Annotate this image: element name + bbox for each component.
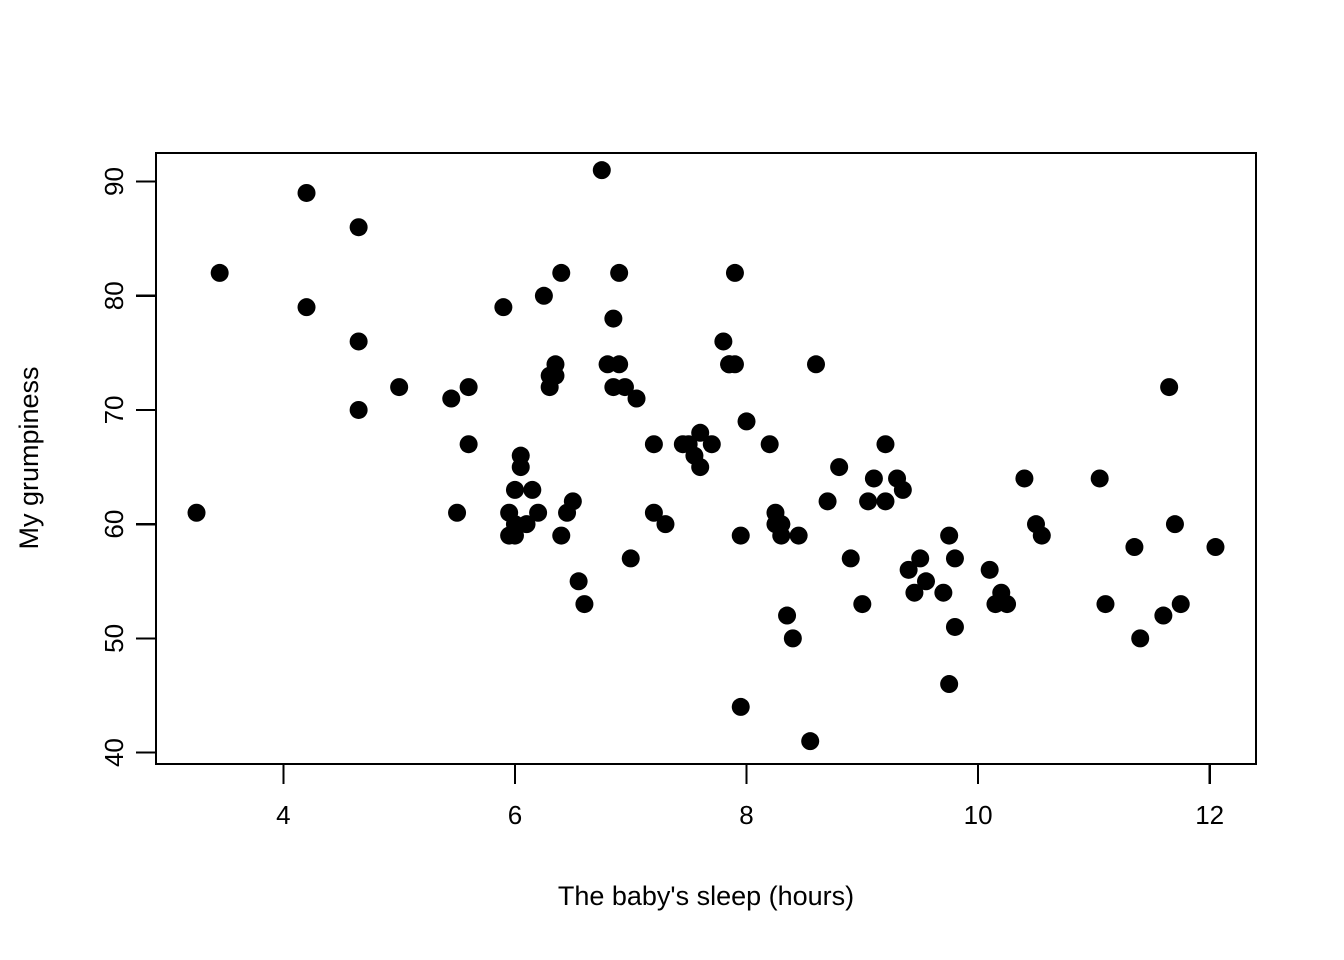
data-point: [570, 572, 588, 590]
y-tick-label: 60: [99, 510, 129, 539]
data-point: [876, 492, 894, 510]
data-point: [790, 527, 808, 545]
data-point: [703, 435, 721, 453]
data-point: [575, 595, 593, 613]
y-tick-label: 70: [99, 396, 129, 425]
data-point: [894, 481, 912, 499]
data-point: [726, 355, 744, 373]
data-point: [442, 390, 460, 408]
y-axis-title: My grumpiness: [14, 366, 44, 549]
data-point: [1015, 469, 1033, 487]
data-point: [188, 504, 206, 522]
data-point: [645, 435, 663, 453]
data-point: [350, 401, 368, 419]
y-tick-label: 50: [99, 624, 129, 653]
x-tick-label: 10: [964, 800, 993, 830]
data-point: [998, 595, 1016, 613]
data-point: [298, 298, 316, 316]
data-point: [772, 527, 790, 545]
data-point: [946, 549, 964, 567]
data-point: [546, 367, 564, 385]
data-point: [494, 298, 512, 316]
data-point: [911, 549, 929, 567]
data-point: [523, 481, 541, 499]
data-point: [691, 458, 709, 476]
data-point: [552, 264, 570, 282]
data-point: [1033, 527, 1051, 545]
y-tick-label: 80: [99, 281, 129, 310]
data-points-layer: [188, 161, 1225, 750]
data-point: [610, 264, 628, 282]
data-point: [865, 469, 883, 487]
y-tick-label: 40: [99, 738, 129, 767]
data-point: [564, 492, 582, 510]
data-point: [732, 527, 750, 545]
x-axis-ticks: 4681012: [276, 765, 1224, 830]
data-point: [552, 527, 570, 545]
data-point: [1160, 378, 1178, 396]
data-point: [859, 492, 877, 510]
data-point: [506, 481, 524, 499]
x-tick-label: 12: [1195, 800, 1224, 830]
data-point: [1096, 595, 1114, 613]
data-point: [853, 595, 871, 613]
data-point: [981, 561, 999, 579]
data-point: [1166, 515, 1184, 533]
data-point: [1091, 469, 1109, 487]
data-point: [946, 618, 964, 636]
data-point: [819, 492, 837, 510]
data-point: [917, 572, 935, 590]
data-point: [610, 355, 628, 373]
data-point: [593, 161, 611, 179]
data-point: [940, 675, 958, 693]
data-point: [211, 264, 229, 282]
data-point: [801, 732, 819, 750]
data-point: [390, 378, 408, 396]
data-point: [940, 527, 958, 545]
data-point: [726, 264, 744, 282]
data-point: [460, 378, 478, 396]
data-point: [298, 184, 316, 202]
scatter-plot-figure: 4681012 405060708090 The baby's sleep (h…: [0, 0, 1344, 960]
data-point: [784, 629, 802, 647]
data-point: [350, 218, 368, 236]
plot-canvas: 4681012 405060708090 The baby's sleep (h…: [0, 0, 1344, 960]
data-point: [842, 549, 860, 567]
data-point: [1125, 538, 1143, 556]
x-tick-label: 8: [739, 800, 753, 830]
data-point: [732, 698, 750, 716]
data-point: [761, 435, 779, 453]
data-point: [1154, 607, 1172, 625]
data-point: [934, 584, 952, 602]
data-point: [448, 504, 466, 522]
data-point: [738, 412, 756, 430]
data-point: [1172, 595, 1190, 613]
data-point: [604, 310, 622, 328]
x-tick-label: 4: [276, 800, 290, 830]
data-point: [714, 332, 732, 350]
data-point: [628, 390, 646, 408]
data-point: [830, 458, 848, 476]
data-point: [1131, 629, 1149, 647]
y-tick-label: 90: [99, 167, 129, 196]
data-point: [622, 549, 640, 567]
data-point: [529, 504, 547, 522]
data-point: [460, 435, 478, 453]
x-tick-label: 6: [508, 800, 522, 830]
data-point: [1206, 538, 1224, 556]
data-point: [512, 458, 530, 476]
y-axis-ticks: 405060708090: [99, 167, 155, 767]
data-point: [656, 515, 674, 533]
data-point: [535, 287, 553, 305]
data-point: [778, 607, 796, 625]
data-point: [350, 332, 368, 350]
data-point: [807, 355, 825, 373]
plot-panel-border: [156, 153, 1256, 764]
data-point: [876, 435, 894, 453]
x-axis-title: The baby's sleep (hours): [558, 881, 854, 911]
